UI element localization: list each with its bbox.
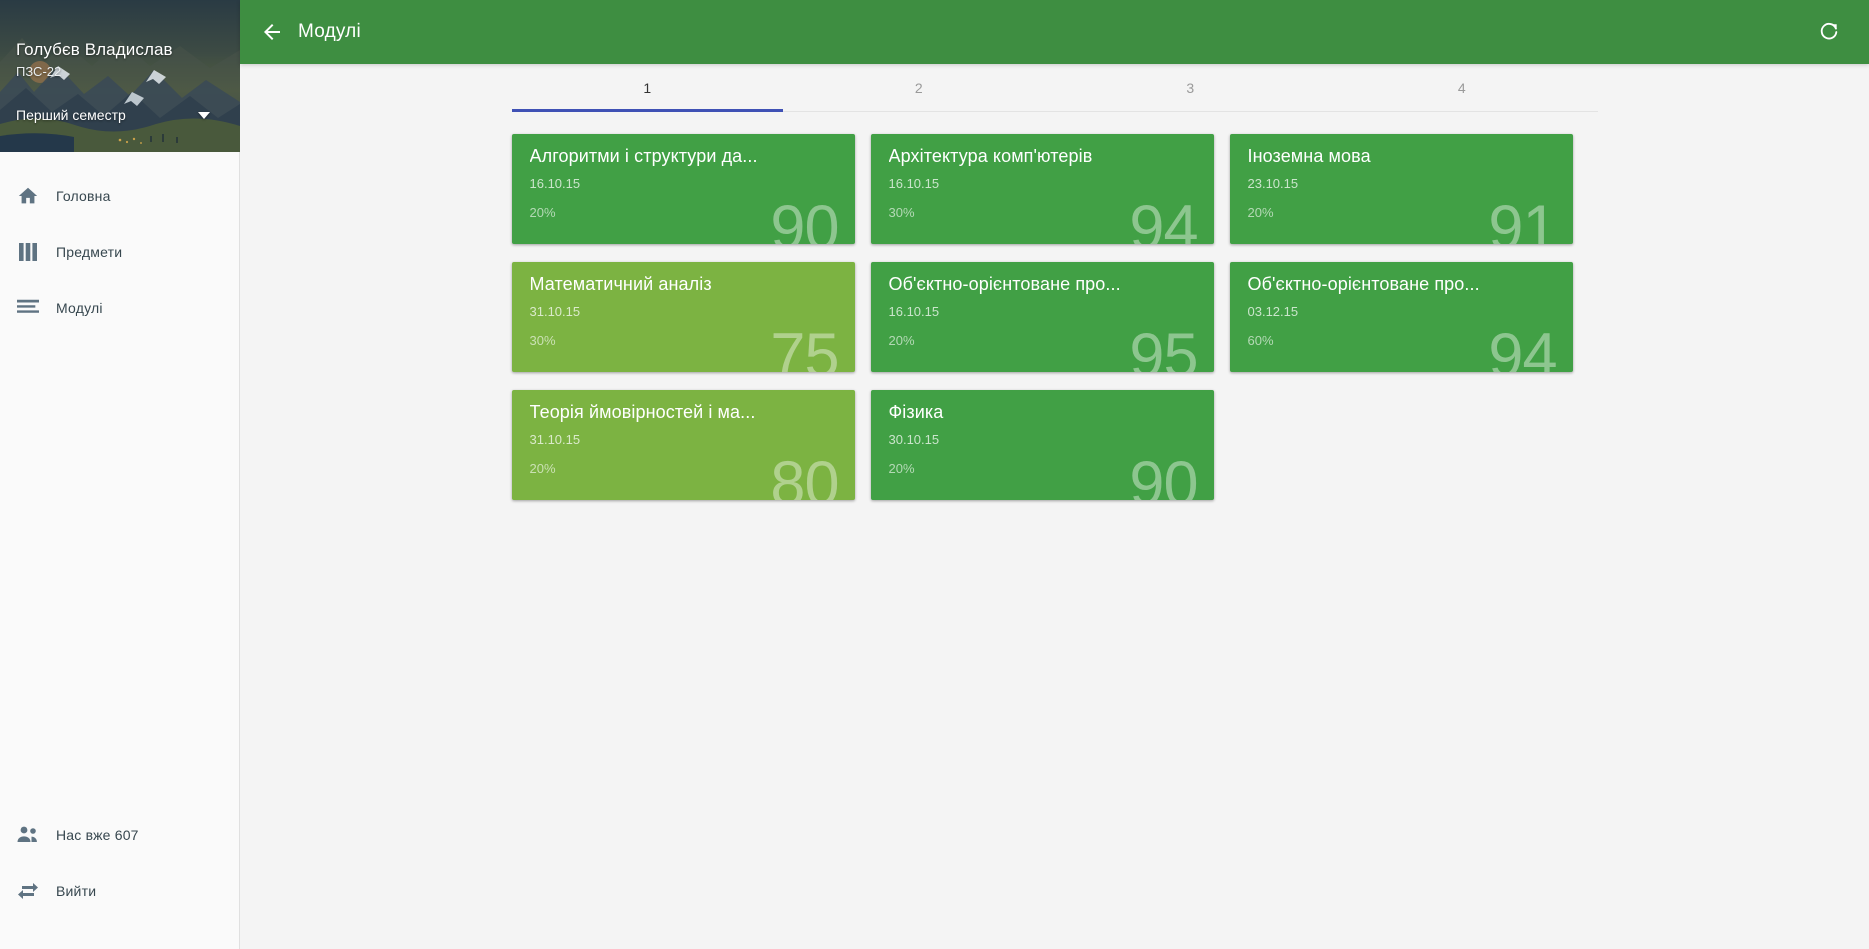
sidebar-item-home[interactable]: Головна: [0, 168, 239, 224]
people-icon: [0, 825, 56, 845]
module-card-score: 91: [1488, 197, 1556, 244]
module-card-score: 90: [1129, 453, 1197, 500]
module-card-date: 30.10.15: [889, 432, 940, 447]
module-card-date: 23.10.15: [1248, 176, 1299, 191]
sidebar-nav-bottom: Нас вже 607 Вийти: [0, 807, 239, 949]
page-title: Модулі: [298, 21, 361, 43]
module-card[interactable]: Математичний аналіз 31.10.15 30% 75: [512, 262, 855, 372]
sidebar-item-logout-label: Вийти: [56, 883, 96, 899]
tab-4-label: 4: [1458, 80, 1466, 96]
module-cards-grid: Алгоритми і структури да... 16.10.15 20%…: [512, 134, 1598, 500]
module-card[interactable]: Алгоритми і структури да... 16.10.15 20%…: [512, 134, 855, 244]
module-card-weight: 20%: [530, 461, 556, 476]
module-card-weight: 20%: [530, 205, 556, 220]
module-card-date: 03.12.15: [1248, 304, 1299, 319]
module-card-date: 16.10.15: [530, 176, 581, 191]
sidebar-item-logout[interactable]: Вийти: [0, 863, 239, 919]
module-tabs: 1 2 3 4: [512, 64, 1598, 112]
module-card-score: 95: [1129, 325, 1197, 372]
sidebar-item-subjects-label: Предмети: [56, 244, 122, 260]
module-card[interactable]: Іноземна мова 23.10.15 20% 91: [1230, 134, 1573, 244]
tab-3-label: 3: [1186, 80, 1194, 96]
module-card-title: Теорія ймовірностей і ма...: [530, 402, 841, 423]
sidebar: Голубєв Владислав ПЗС-22 Перший семестр …: [0, 0, 240, 949]
module-card-score: 94: [1129, 197, 1197, 244]
module-card[interactable]: Теорія ймовірностей і ма... 31.10.15 20%…: [512, 390, 855, 500]
sidebar-item-user-count-label: Нас вже 607: [56, 827, 139, 843]
sidebar-item-subjects[interactable]: Предмети: [0, 224, 239, 280]
module-card-date: 31.10.15: [530, 432, 581, 447]
arrow-left-icon: [260, 20, 284, 44]
semester-label: Перший семестр: [16, 107, 126, 123]
module-card-weight: 20%: [1248, 205, 1274, 220]
module-card[interactable]: Об'єктно-орієнтоване про... 03.12.15 60%…: [1230, 262, 1573, 372]
app-bar: Модулі: [240, 0, 1869, 64]
profile-name: Голубєв Владислав: [16, 40, 173, 60]
module-card-title: Іноземна мова: [1248, 146, 1559, 167]
chevron-down-icon: [198, 112, 210, 119]
module-card-score: 94: [1488, 325, 1556, 372]
module-card[interactable]: Фізика 30.10.15 20% 90: [871, 390, 1214, 500]
module-card-weight: 20%: [889, 461, 915, 476]
tab-2[interactable]: 2: [783, 64, 1055, 111]
main-area: Модулі 1 2 3 4 Алгоритми і структури да.: [240, 0, 1869, 949]
module-card-title: Фізика: [889, 402, 1200, 423]
module-card-weight: 30%: [530, 333, 556, 348]
refresh-icon: [1818, 21, 1840, 43]
home-icon: [0, 185, 56, 207]
module-card-weight: 30%: [889, 205, 915, 220]
module-card-title: Об'єктно-орієнтоване про...: [1248, 274, 1559, 295]
profile-header: Голубєв Владислав ПЗС-22 Перший семестр: [0, 0, 240, 152]
list-icon: [0, 299, 56, 317]
tab-3[interactable]: 3: [1055, 64, 1327, 111]
module-cards-area: Алгоритми і структури да... 16.10.15 20%…: [512, 134, 1598, 500]
module-card[interactable]: Об'єктно-орієнтоване про... 16.10.15 20%…: [871, 262, 1214, 372]
sidebar-item-user-count[interactable]: Нас вже 607: [0, 807, 239, 863]
module-card-title: Алгоритми і структури да...: [530, 146, 841, 167]
module-card-score: 90: [770, 197, 838, 244]
module-card[interactable]: Архітектура комп'ютерів 16.10.15 30% 94: [871, 134, 1214, 244]
refresh-button[interactable]: [1809, 12, 1849, 52]
columns-icon: [0, 243, 56, 261]
profile-group: ПЗС-22: [16, 64, 61, 79]
tab-1[interactable]: 1: [512, 64, 784, 111]
swap-horizontal-icon: [0, 882, 56, 900]
back-button[interactable]: [252, 12, 292, 52]
app-root: Голубєв Владислав ПЗС-22 Перший семестр …: [0, 0, 1869, 949]
sidebar-item-modules[interactable]: Модулі: [0, 280, 239, 336]
sidebar-nav-main: Головна Предмети Модулі: [0, 152, 239, 336]
module-card-date: 16.10.15: [889, 176, 940, 191]
sidebar-item-modules-label: Модулі: [56, 300, 103, 316]
module-card-date: 16.10.15: [889, 304, 940, 319]
module-card-score: 80: [770, 453, 838, 500]
tab-2-label: 2: [915, 80, 923, 96]
tab-1-label: 1: [643, 80, 651, 96]
tab-4[interactable]: 4: [1326, 64, 1598, 111]
sidebar-item-home-label: Головна: [56, 188, 111, 204]
semester-dropdown[interactable]: Перший семестр: [16, 107, 224, 123]
module-card-title: Об'єктно-орієнтоване про...: [889, 274, 1200, 295]
module-card-score: 75: [770, 325, 838, 372]
module-card-weight: 20%: [889, 333, 915, 348]
module-card-date: 31.10.15: [530, 304, 581, 319]
content-area: 1 2 3 4 Алгоритми і структури да... 16.1…: [240, 64, 1869, 949]
module-card-weight: 60%: [1248, 333, 1274, 348]
module-card-title: Архітектура комп'ютерів: [889, 146, 1200, 167]
module-card-title: Математичний аналіз: [530, 274, 841, 295]
